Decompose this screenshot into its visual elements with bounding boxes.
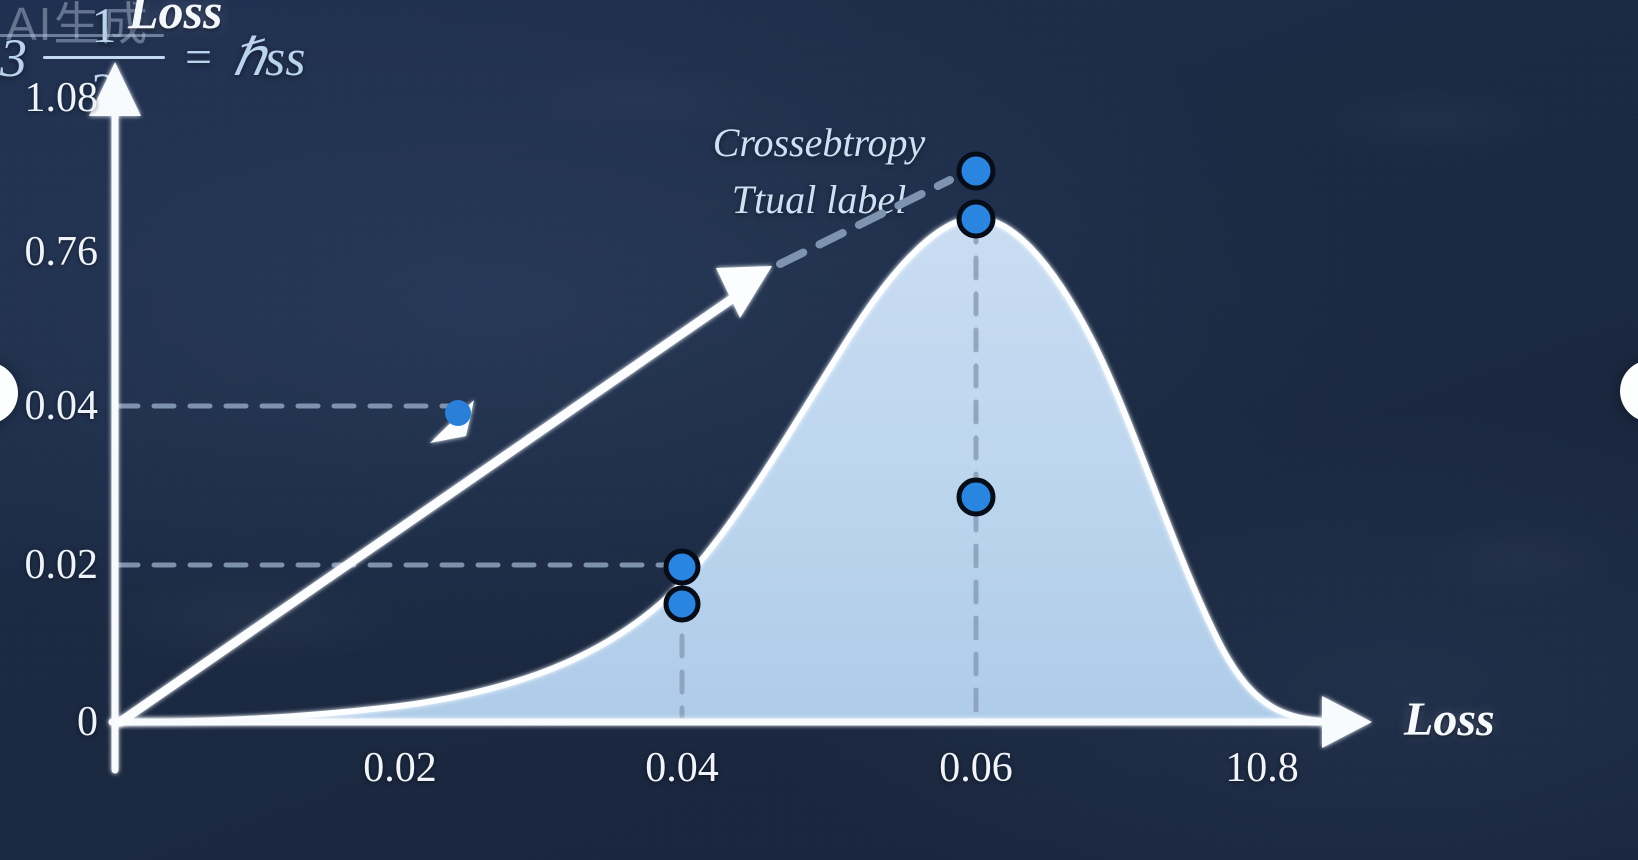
x-axis-title: Loss: [1404, 692, 1495, 747]
x-tick-label-10-8: 10.8: [1182, 744, 1342, 792]
marker-on-trend-line: [445, 400, 471, 426]
marker-peak-curve: [959, 202, 993, 236]
marker-peak-mid: [959, 480, 993, 514]
y-tick-label-0: 0: [0, 698, 98, 746]
slide-canvas: AI生成 Loss 1.08 0.76 0.04 0.02 0 0.02 0.0…: [0, 0, 1638, 860]
x-tick-label-0-04: 0.04: [602, 744, 762, 792]
marker-gridline-0-02-lower: [666, 588, 698, 620]
x-tick-label-0-06: 0.06: [896, 744, 1056, 792]
marker-peak-top: [959, 154, 993, 188]
y-tick-label-0-02: 0.02: [0, 541, 98, 589]
y-tick-label-0-76: 0.76: [0, 228, 98, 276]
page-title: Loss: [128, 0, 222, 40]
marker-gridline-0-02-upper: [666, 551, 698, 583]
chart-vector-layer: [0, 0, 1638, 860]
y-tick-label-1-08: 1.08: [0, 74, 98, 122]
x-tick-label-0-02: 0.02: [320, 744, 480, 792]
